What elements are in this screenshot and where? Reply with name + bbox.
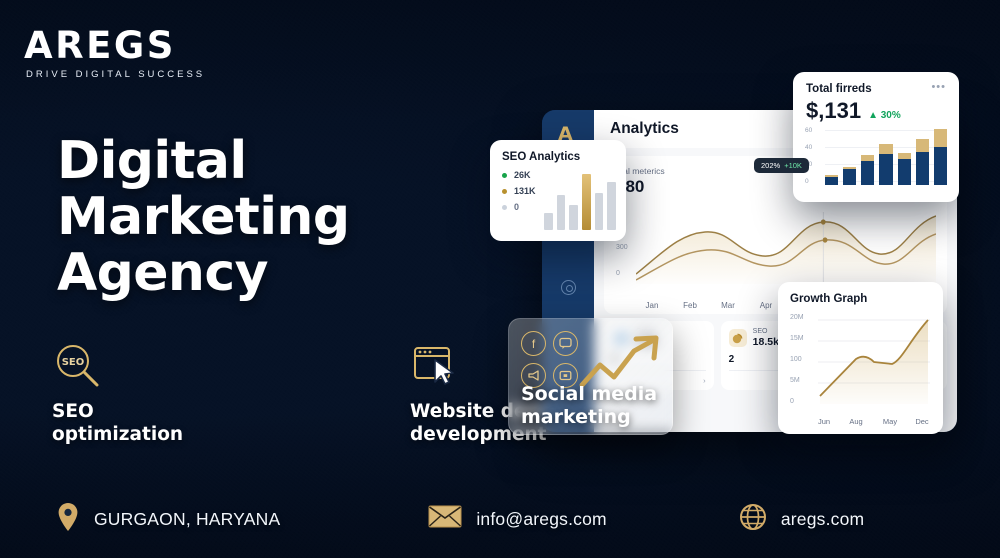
feature-seo-optimization: SEO SEO optimization [52,340,262,446]
globe-icon [739,503,767,536]
chart-bar [569,205,578,230]
feature-label-line-2: optimization [52,423,262,446]
seo-analytics-title: SEO Analytics [502,151,614,163]
chart-y-tick: 100 [790,356,802,363]
chart-bar [607,182,616,230]
page-title: Digital Marketing Agency [57,133,349,301]
chart-x-tick: May [883,417,897,426]
chart-bar [843,167,856,185]
social-label-line-2: marketing [521,406,657,428]
feature-label-line-1: SEO [52,400,262,423]
analytics-y-tick: 0 [616,270,620,277]
total-firreds-card: Total firreds ••• $,131 ▲ 30% 60 40 20 0 [793,72,959,202]
tooltip-value: 202% [761,161,780,170]
chart-y-tick: 20M [790,314,804,321]
chart-bar [861,155,874,185]
tile-key: SEO [753,328,779,336]
growth-graph-title: Growth Graph [790,293,931,305]
chart-bar-highlight [582,174,591,230]
chart-bar [595,193,604,230]
headline-line-1: Digital [57,133,349,189]
brand-name: AREGS [24,27,205,64]
legend-dot-icon [502,189,507,194]
seo-magnifier-icon: SEO [52,340,262,392]
dashboard-mockup: A Analytics ...al meterics 080 All Conta… [470,60,990,460]
envelope-icon [428,504,462,534]
growth-graph-chart: 20M 15M 100 5M 0 [788,314,934,426]
headline-line-2: Marketing [57,189,349,245]
brand-tagline: DRIVE DIGITAL SUCCESS [24,69,205,80]
chart-bar [557,195,566,230]
pie-chart-icon [729,329,747,347]
legend-dot-icon [502,173,507,178]
total-firreds-title: Total firreds [806,83,872,95]
chart-y-tick: 0 [805,178,809,185]
chart-y-tick: 0 [790,398,794,405]
social-media-label: Social media marketing [521,383,657,428]
sidebar-settings-icon[interactable] [561,280,576,295]
chart-bar [879,144,892,185]
location-text: GURGAON, HARYANA [94,509,280,530]
more-options-icon[interactable]: ••• [931,83,946,92]
chart-y-tick: 40 [805,144,812,151]
chart-x-tick: Dec [915,417,928,426]
chart-y-tick: 5M [790,377,800,384]
promo-banner: AREGS DRIVE DIGITAL SUCCESS Digital Mark… [0,0,1000,558]
legend-dot-icon [502,205,507,210]
analytics-x-tick: Feb [683,301,697,310]
tooltip-delta: +10K [784,161,802,170]
chevron-right-icon[interactable]: › [703,376,706,385]
seo-analytics-card: SEO Analytics 26K 131K 0 [490,140,626,241]
footer-email[interactable]: info@aregs.com [428,504,606,534]
footer-website[interactable]: aregs.com [739,503,865,536]
analytics-x-tick: Apr [760,301,772,310]
location-pin-icon [56,502,80,537]
growth-graph-card: Growth Graph 20M 15M 100 5M 0 [778,282,943,434]
svg-text:SEO: SEO [62,357,85,368]
tile-value: 18.5k [753,336,779,349]
analytics-x-tick: Mar [721,301,735,310]
chart-bar [898,153,911,185]
total-firreds-delta: ▲ 30% [868,110,901,121]
website-text[interactable]: aregs.com [781,509,865,530]
chart-y-tick: 60 [805,127,812,134]
chart-bar [916,139,929,185]
legend-label: 0 [514,202,519,212]
chat-icon [553,331,578,356]
app-header-title: Analytics [610,120,679,138]
email-text[interactable]: info@aregs.com [476,509,606,530]
total-firreds-chart: 60 40 20 0 [805,127,949,193]
contact-footer: GURGAON, HARYANA info@aregs.com [56,496,970,542]
legend-label: 131K [514,186,536,196]
chart-y-tick: 15M [790,335,804,342]
chart-x-tick: Jun [818,417,830,426]
legend-label: 26K [514,170,531,180]
headline-line-3: Agency [57,245,349,301]
analytics-x-tick: Jan [646,301,659,310]
brand-logo: AREGS DRIVE DIGITAL SUCCESS [24,27,205,80]
social-media-card: f [508,318,673,435]
seo-analytics-chart [544,174,616,230]
chart-bar [934,129,947,185]
feature-label: SEO optimization [52,400,262,446]
facebook-icon: f [521,331,546,356]
chart-bar [544,213,553,230]
chart-bar [825,175,838,185]
footer-location: GURGAON, HARYANA [56,502,280,537]
chart-tooltip: 202%+10K [754,158,809,173]
analytics-y-tick: 300 [616,244,628,251]
total-firreds-value: $,131 [806,98,861,124]
social-label-line-1: Social media [521,383,657,405]
chart-x-tick: Aug [849,417,862,426]
